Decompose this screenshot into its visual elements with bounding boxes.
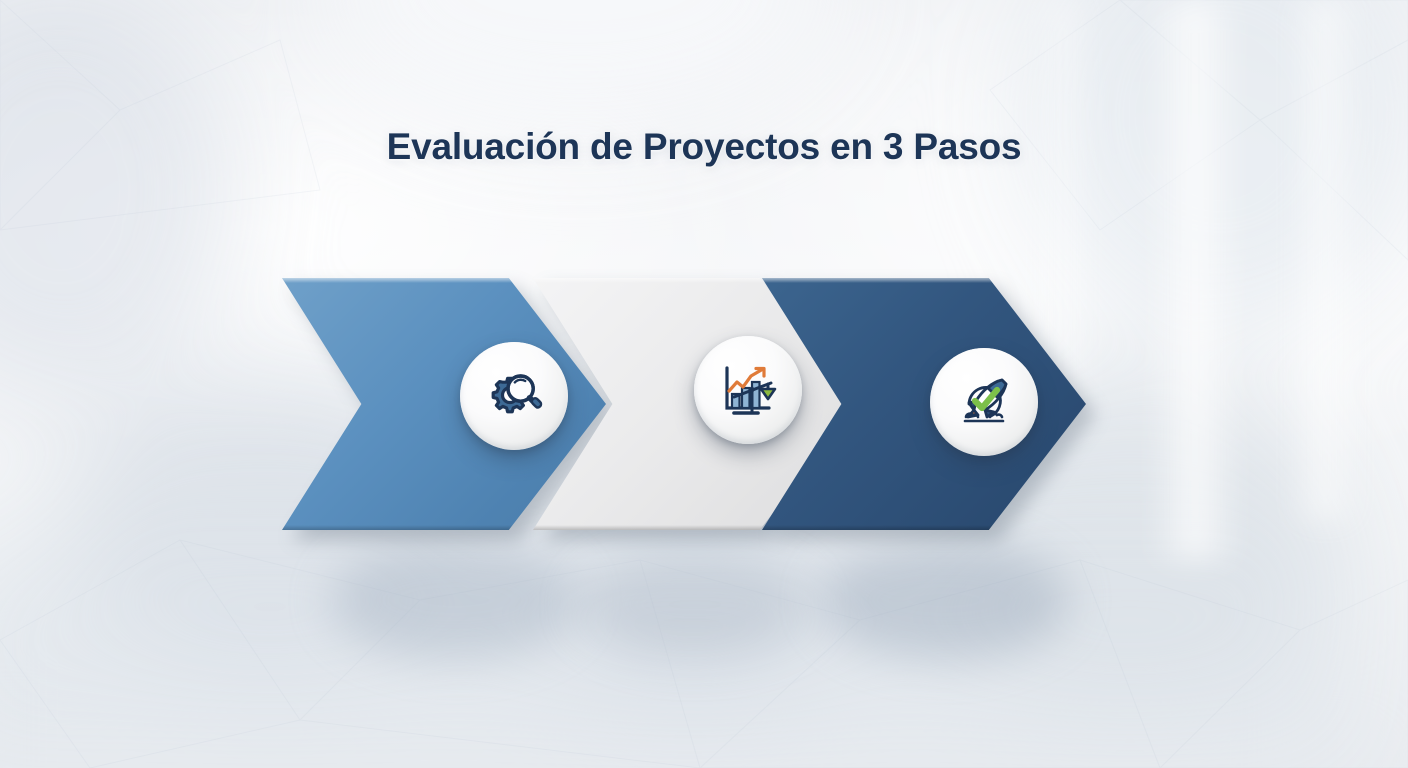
floor-reflection	[820, 540, 1070, 660]
page-title: Evaluación de Proyectos en 3 Pasos	[0, 126, 1408, 168]
process-chevron-band	[282, 278, 1072, 530]
floor-reflection	[330, 540, 580, 660]
chevron-top-bevel	[762, 278, 1086, 283]
process-step-1-icon-disc[interactable]	[460, 342, 568, 450]
background-blob	[0, 0, 240, 400]
process-step-2-icon-disc[interactable]	[694, 336, 802, 444]
floor-reflection	[580, 552, 810, 657]
background-blob	[320, 0, 840, 130]
window-light-streak	[1150, 0, 1240, 560]
slide-canvas: Evaluación de Proyectos en 3 Pasos	[0, 0, 1408, 768]
gear-magnifier-icon	[482, 364, 546, 428]
chevron-bottom-bevel	[762, 525, 1086, 530]
process-step-3-icon-disc[interactable]	[930, 348, 1038, 456]
chart-scale-icon	[716, 358, 780, 422]
window-light-streak	[1290, 0, 1360, 520]
rocket-check-icon	[952, 370, 1016, 434]
